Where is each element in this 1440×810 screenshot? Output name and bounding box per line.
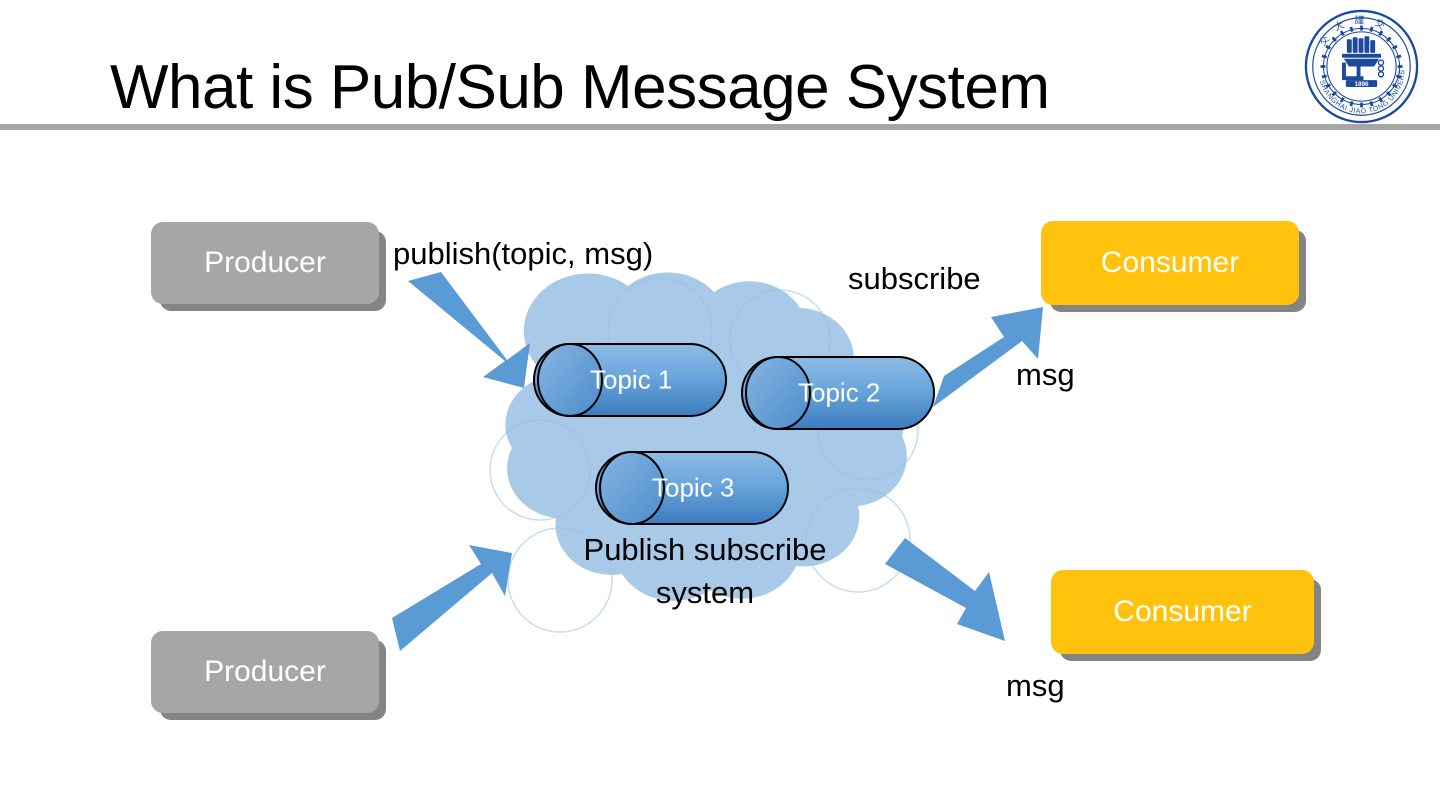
msg-label-bottom: msg (1006, 668, 1065, 704)
topic-3: Topic 3 (596, 452, 788, 524)
consumer-box-top[interactable]: Consumer (1041, 221, 1299, 305)
topic-1: Topic 1 (534, 344, 726, 416)
msg-label-top: msg (1016, 357, 1075, 393)
consumer-label: Consumer (1101, 246, 1239, 280)
slide-canvas: What is Pub/Sub Message System (0, 0, 1440, 810)
topic-label: Topic 3 (652, 473, 734, 504)
consumer-box-bottom[interactable]: Consumer (1051, 570, 1314, 654)
topic-2: Topic 2 (742, 357, 934, 429)
cloud-caption-line-1: Publish subscribe (540, 528, 870, 571)
producer-box-bottom[interactable]: Producer (151, 631, 379, 713)
producer-label: Producer (204, 655, 326, 689)
producer-label: Producer (204, 246, 326, 280)
topic-label: Topic 1 (590, 365, 672, 396)
producer-box-top[interactable]: Producer (151, 222, 379, 304)
publish-arrow-bottom (392, 545, 512, 651)
consumer-label: Consumer (1113, 595, 1251, 629)
msg-arrow-bottom (885, 538, 1005, 641)
subscribe-label: subscribe (848, 261, 981, 297)
publish-label: publish(topic, msg) (393, 236, 653, 272)
cloud-caption: Publish subscribe system (540, 528, 870, 615)
cloud-caption-line-2: system (540, 571, 870, 614)
topic-label: Topic 2 (798, 378, 880, 409)
publish-arrow (408, 272, 530, 388)
